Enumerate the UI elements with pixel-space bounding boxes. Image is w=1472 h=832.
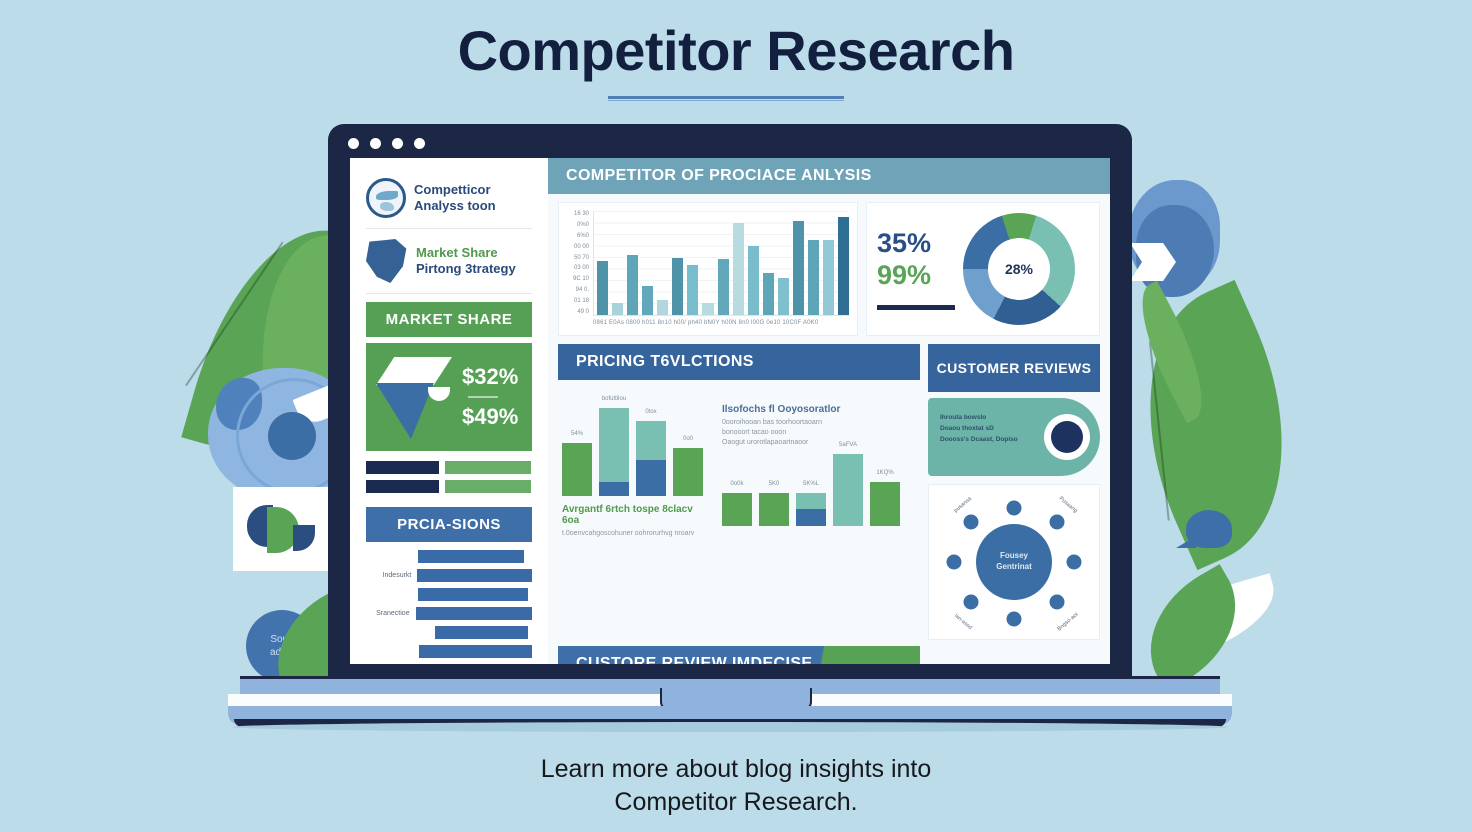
stat-rule <box>877 305 955 310</box>
hbar-label: Indesurkt <box>366 572 411 579</box>
laptop-drop-shadow <box>232 722 1228 732</box>
y-tick: 16 30 <box>567 211 589 217</box>
badge-line-1: Soue <box>270 634 293 645</box>
hub-core-line1: Fousey <box>1000 551 1028 560</box>
hub-label: lan-assd <box>954 613 974 631</box>
hub-node[interactable] <box>1007 611 1022 626</box>
hbar-row: Indesurkt <box>366 569 532 582</box>
pricing-left-group: 54% bofuttilou 0tox <box>562 404 712 634</box>
y-tick: 03 00 <box>567 265 589 271</box>
window-dot-3 <box>392 138 403 149</box>
bar-value: 1KQ% <box>870 470 900 476</box>
logo-wedge-navy <box>247 505 273 547</box>
customer-review-card: Ihrouta bowslo Doaou thoxtat sD Doooss's… <box>928 398 1100 476</box>
hub-label: Bngso-aot <box>1056 611 1079 632</box>
mini-bar-row <box>366 480 532 493</box>
x-axis-labels: 0861 E0As 0800 h011 8n10 h00/ ph40 bN0Y … <box>567 320 849 326</box>
bar-column: 0o0k <box>722 493 752 526</box>
bar <box>672 258 683 315</box>
pricing-left-caption: Avrgantf 6rtch tospe 8clacv 6oa <box>562 504 712 526</box>
y-tick: 0%0 <box>567 222 589 228</box>
y-tick: 00 00 <box>567 244 589 250</box>
bar <box>823 240 834 315</box>
sidebar-label-line2: Analyss toon <box>414 198 496 214</box>
bar <box>748 246 759 315</box>
bar <box>687 265 698 315</box>
decor-bird-right <box>1186 510 1232 548</box>
bar-column: bofuttilou <box>599 408 629 496</box>
title-underline <box>608 96 844 99</box>
bar-column: 5K%L <box>796 493 826 526</box>
pricing-right-group: Ilsofochs fl Ooyosoratlor 0ooroihooan ba… <box>722 404 916 634</box>
globe-icon <box>366 178 406 218</box>
y-tick: 9C 10 <box>567 276 589 282</box>
hbar-row <box>366 550 532 563</box>
stat-secondary: 99% <box>877 260 955 292</box>
header-product-analysis: COMPETITOR OF PROCIACE ANLYSIS <box>548 158 1110 194</box>
share-donut-panel: 35% 99% 28% <box>866 202 1100 336</box>
bar <box>627 255 638 315</box>
review-avatar <box>1044 414 1090 460</box>
logo-wedge-blue <box>293 525 315 551</box>
flower-left-core <box>268 412 316 460</box>
donut-center-label: 28% <box>988 238 1050 300</box>
header-review-index: CUSTORE REVIEW IMDECISE <box>558 646 920 664</box>
mini-bar-list <box>366 461 532 493</box>
hub-node[interactable] <box>1049 515 1064 530</box>
bar <box>612 303 623 315</box>
y-tick: 49 0 <box>567 309 589 315</box>
hub-node[interactable] <box>964 594 979 609</box>
sidebar-item-market-share-strategy[interactable]: Market Share Pirtong 3trategy <box>360 229 538 293</box>
laptop-screen: Competticor Analyss toon Market Share Pi… <box>350 158 1110 664</box>
hub-diagram-panel: Fousey Gentrinat <box>928 484 1100 640</box>
bar <box>763 273 774 315</box>
window-dot-1 <box>348 138 359 149</box>
bar <box>702 303 713 315</box>
dashboard-content: COMPETITOR OF PROCIACE ANLYSIS 16 30 0%0… <box>548 158 1110 664</box>
hub-core-line2: Gentrinat <box>996 562 1032 571</box>
logo-card <box>233 487 331 571</box>
hbar-row <box>366 645 532 658</box>
bar-column: 5aFVA <box>833 454 863 526</box>
hub-node[interactable] <box>946 555 961 570</box>
decor-white-leaf-right <box>1145 573 1286 665</box>
bar-column: 0tox <box>636 421 666 496</box>
bar-column: 1KQ% <box>870 482 900 527</box>
leaf-right-thin <box>1121 281 1222 423</box>
donut-stats: 35% 99% <box>877 228 955 311</box>
market-share-value-2: $49% <box>462 404 518 430</box>
header-customer-reviews: CUSTOMER REVIEWS <box>928 344 1100 392</box>
pricing-right-caption: Ilsofochs fl Ooyosoratlor <box>722 404 916 415</box>
hbar-row: Sranectioe <box>366 607 532 620</box>
sidebar-divider-2 <box>366 293 532 294</box>
pricing-right-subcaption: 0ooroihooan bas toorhoortaoarn bonooort … <box>722 418 916 448</box>
hbar-row <box>366 626 532 639</box>
bar-value: 0o0k <box>722 481 752 487</box>
sidebar-label2-line2: Pirtong 3trategy <box>416 261 516 277</box>
bar <box>793 221 804 315</box>
hub-diagram: Fousey Gentrinat <box>935 491 1093 633</box>
mini-bar-row <box>366 461 532 474</box>
sidebar-label2-line1: Market Share <box>416 245 516 261</box>
bar-column: 5K0 <box>759 493 789 526</box>
bar <box>657 300 668 315</box>
bar <box>838 217 849 315</box>
caption-line-2: Competitor Research. <box>0 786 1472 819</box>
bar <box>808 240 819 315</box>
y-axis-labels: 16 30 0%0 6%0 00 00 50 70 03 00 9C 10 94… <box>567 211 589 315</box>
market-share-banner: MARKET SHARE <box>366 302 532 337</box>
leaf-right-bottom <box>1124 564 1261 692</box>
y-tick: 01 18 <box>567 298 589 304</box>
bar <box>778 278 789 315</box>
dashboard-sidebar: Competticor Analyss toon Market Share Pi… <box>350 158 548 664</box>
window-dot-2 <box>370 138 381 149</box>
decor-bird-beak <box>1176 536 1196 548</box>
hub-core: Fousey Gentrinat <box>976 524 1052 600</box>
bar-value: 5K0 <box>759 481 789 487</box>
decor-blob-right-2 <box>1136 205 1214 297</box>
bar-column: 0o0 <box>673 448 703 496</box>
bar-value: 54% <box>562 431 592 437</box>
hub-node[interactable] <box>1007 501 1022 516</box>
product-analysis-bars <box>597 211 849 315</box>
caption-line-1: Learn more about blog insights into <box>0 753 1472 786</box>
bar <box>642 286 653 315</box>
y-tick: 50 70 <box>567 255 589 261</box>
page-title: Competitor Research <box>0 18 1472 83</box>
market-share-card: $32% $49% <box>366 343 532 451</box>
bar-column: 54% <box>562 443 592 496</box>
price-comparison-hbars: Indesurkt Sranectioe <box>366 550 532 658</box>
decor-circle-badge: Soue adinc <box>246 610 318 682</box>
decor-arrow-right <box>1130 243 1176 281</box>
logo-wedge-green <box>267 507 299 553</box>
poster-root: Soue adinc Competitor Research Compettic… <box>0 0 1472 832</box>
bar <box>597 261 608 315</box>
hbar-row <box>366 588 532 601</box>
y-tick: 6%0 <box>567 233 589 239</box>
window-dot-4 <box>414 138 425 149</box>
bar <box>718 259 729 315</box>
pricing-charts-panel: 54% bofuttilou 0tox <box>558 398 920 640</box>
share-donut: 28% <box>963 213 1075 325</box>
page-caption: Learn more about blog insights into Comp… <box>0 753 1472 820</box>
stat-primary: 35% <box>877 228 955 260</box>
y-tick: 94 0. <box>567 287 589 293</box>
decor-blob-right-1 <box>1128 180 1220 290</box>
bar-value: 0o0 <box>673 436 703 442</box>
hub-node[interactable] <box>1049 594 1064 609</box>
hub-label: pusansa <box>954 496 974 514</box>
pricing-left-subcaption: t.0oenvcahgoscohuner oohrorurhvg nroarv <box>562 529 712 539</box>
bar-value: 0tox <box>636 409 666 415</box>
pricing-banner: PRCIA-SIONS <box>366 507 532 542</box>
header-pricing: PRICING T6VLCTIONS <box>558 344 920 380</box>
bar <box>733 223 744 315</box>
product-analysis-chart-panel: 16 30 0%0 6%0 00 00 50 70 03 00 9C 10 94… <box>558 202 858 336</box>
bar-value: 5aFVA <box>833 442 863 448</box>
map-icon <box>366 239 408 283</box>
badge-line-2: adinc <box>270 647 294 658</box>
hub-node[interactable] <box>1067 555 1082 570</box>
flower-left-petal-side <box>216 378 262 430</box>
sidebar-item-competitor-analysis[interactable]: Competticor Analyss toon <box>360 168 538 228</box>
hub-label: Pusaang <box>1057 496 1077 515</box>
sidebar-label-line1: Competticor <box>414 182 496 198</box>
hub-node[interactable] <box>964 515 979 530</box>
diamond-icon <box>376 357 452 439</box>
bar-value: 5K%L <box>796 481 826 487</box>
hbar-label: Sranectioe <box>366 610 410 617</box>
market-share-value-1: $32% <box>462 364 518 390</box>
bar-value: bofuttilou <box>599 396 629 402</box>
